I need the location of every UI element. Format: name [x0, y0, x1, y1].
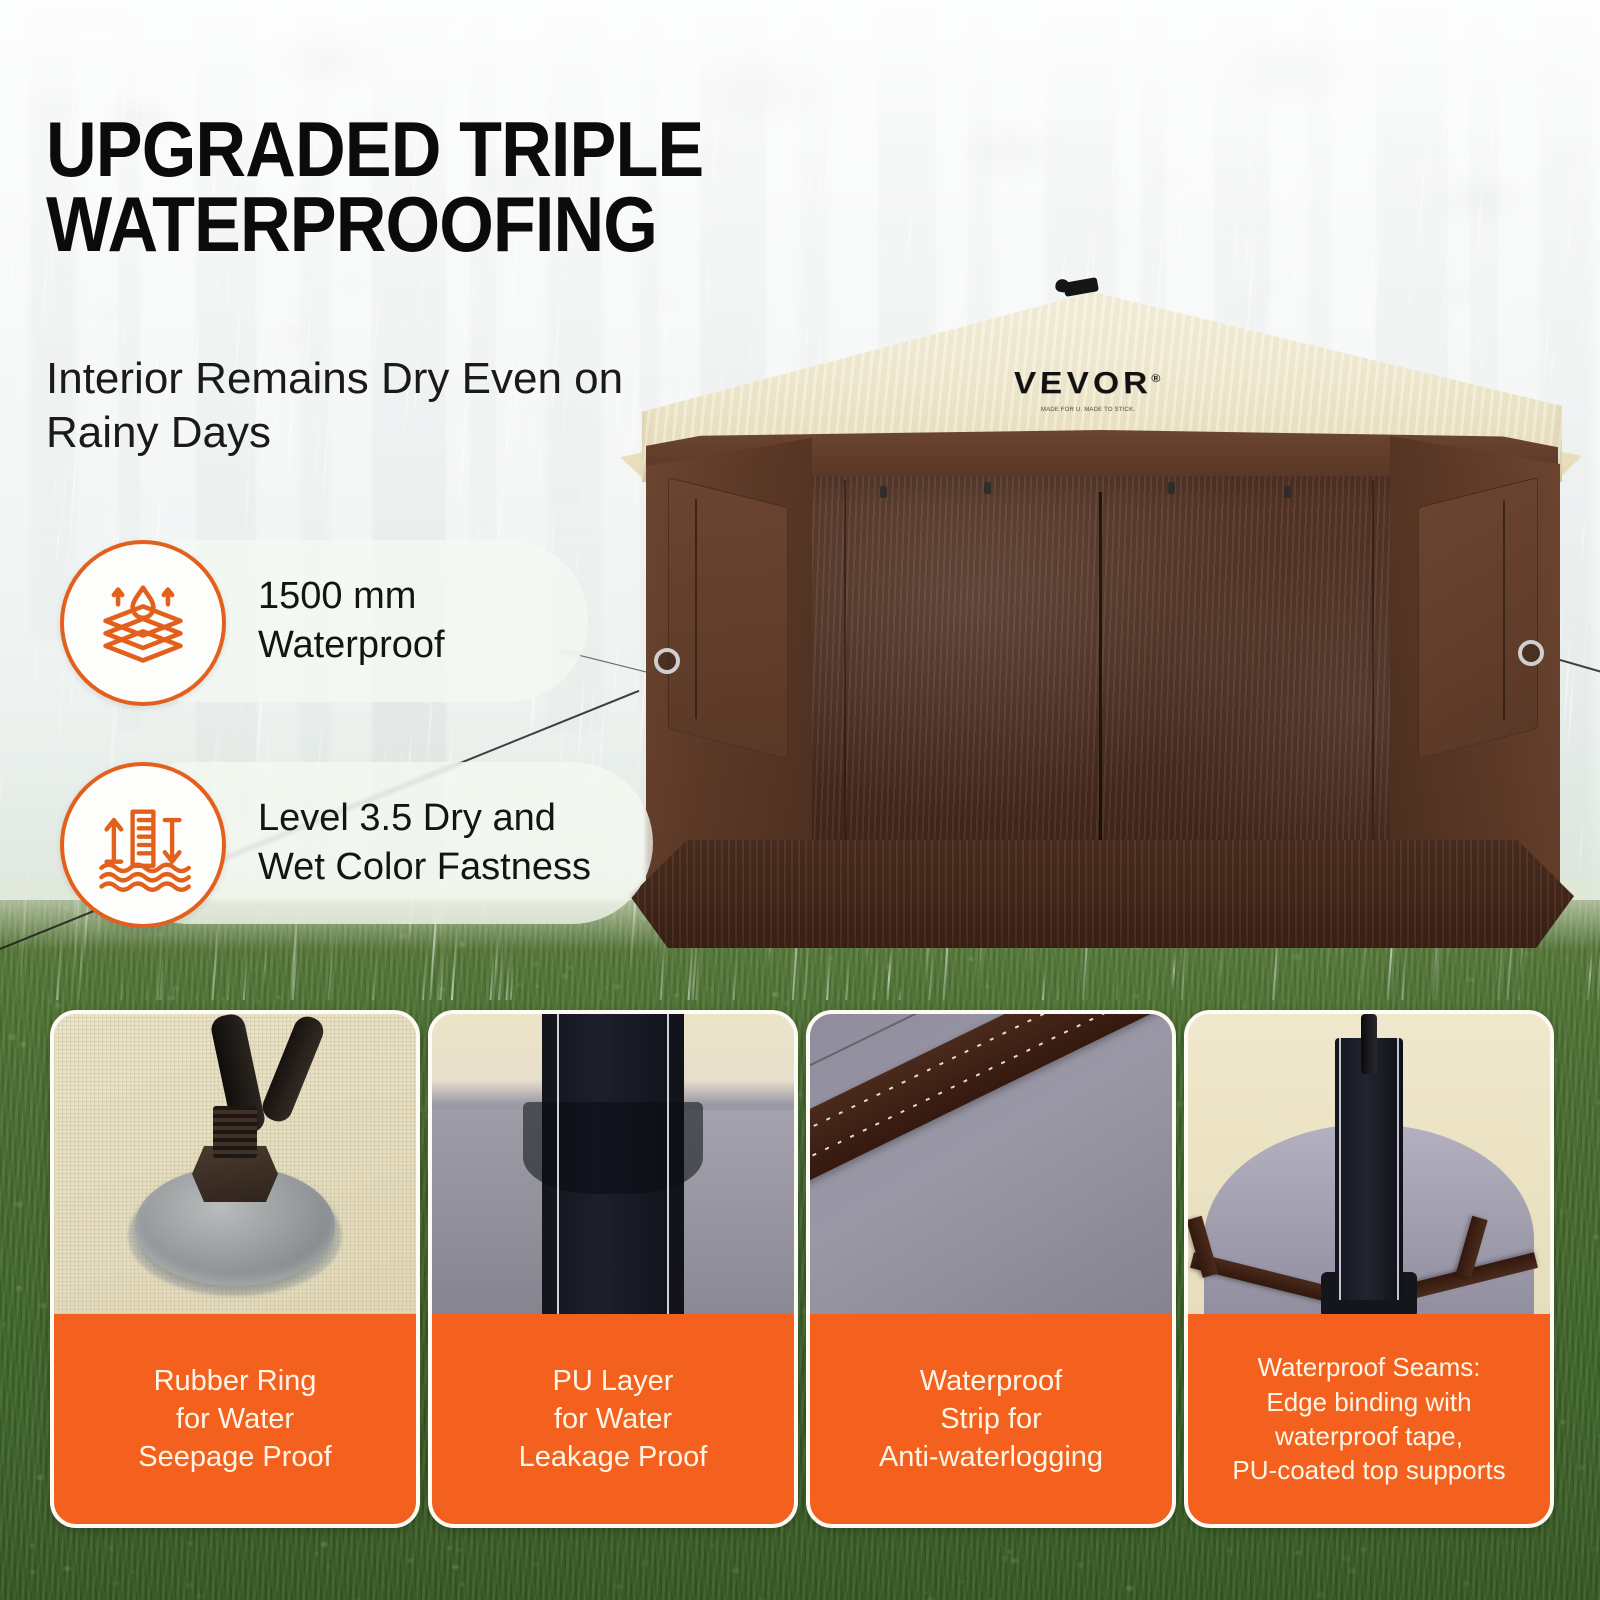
vevor-brand-logo: VEVOR® — [962, 366, 1211, 401]
detail-card-caption: Waterproof Strip for Anti-waterlogging — [810, 1314, 1172, 1524]
grommet-right — [1518, 640, 1544, 666]
detail-card-waterproof-strip[interactable]: Waterproof Strip for Anti-waterlogging — [806, 1010, 1176, 1528]
detail-card-waterproof-seams[interactable]: Waterproof Seams: Edge binding with wate… — [1184, 1010, 1554, 1528]
detail-card-rubber-ring[interactable]: Rubber Ring for Water Seepage Proof — [50, 1010, 420, 1528]
waterproof-strip-photo — [810, 1014, 1172, 1314]
grommet-left — [654, 648, 680, 674]
panel-seam-left — [844, 480, 846, 898]
tent-ground-skirt — [630, 840, 1574, 948]
door-clip-4 — [1284, 486, 1291, 498]
detail-card-pu-layer[interactable]: PU Layer for Water Leakage Proof — [428, 1010, 798, 1528]
page-title: UPGRADED TRIPLE WATERPROOFING — [46, 112, 784, 262]
detail-card-caption: Waterproof Seams: Edge binding with wate… — [1188, 1314, 1550, 1524]
headline-line-1: UPGRADED TRIPLE — [46, 112, 784, 187]
pu-layer-seam-photo — [432, 1014, 794, 1314]
door-clip-3 — [1168, 482, 1175, 494]
page-subtitle: Interior Remains Dry Even on Rainy Days — [46, 352, 706, 459]
waterproof-seams-apex-photo — [1188, 1014, 1550, 1314]
side-pocket-left — [668, 477, 788, 759]
rubber-ring-grommet-photo — [54, 1014, 416, 1314]
door-clip-1 — [880, 486, 887, 498]
vevor-brand-subtext: MADE FOR U. MADE TO STICK. — [972, 406, 1205, 414]
marketing-infographic: VEVOR® MADE FOR U. MADE TO STICK. UPGRAD… — [0, 0, 1600, 1600]
detail-cards-row: Rubber Ring for Water Seepage Proof PU L… — [0, 1000, 1600, 1530]
side-pocket-right — [1418, 477, 1538, 759]
waterproof-layers-icon — [60, 540, 226, 706]
door-clip-2 — [984, 482, 991, 494]
detail-card-caption: Rubber Ring for Water Seepage Proof — [54, 1314, 416, 1524]
color-fastness-gauge-icon — [60, 762, 226, 928]
gazebo-tent-product: VEVOR® MADE FOR U. MADE TO STICK. — [612, 280, 1592, 940]
panel-seam-right — [1372, 480, 1374, 898]
detail-card-caption: PU Layer for Water Leakage Proof — [432, 1314, 794, 1524]
headline-line-2: WATERPROOFING — [46, 187, 784, 262]
